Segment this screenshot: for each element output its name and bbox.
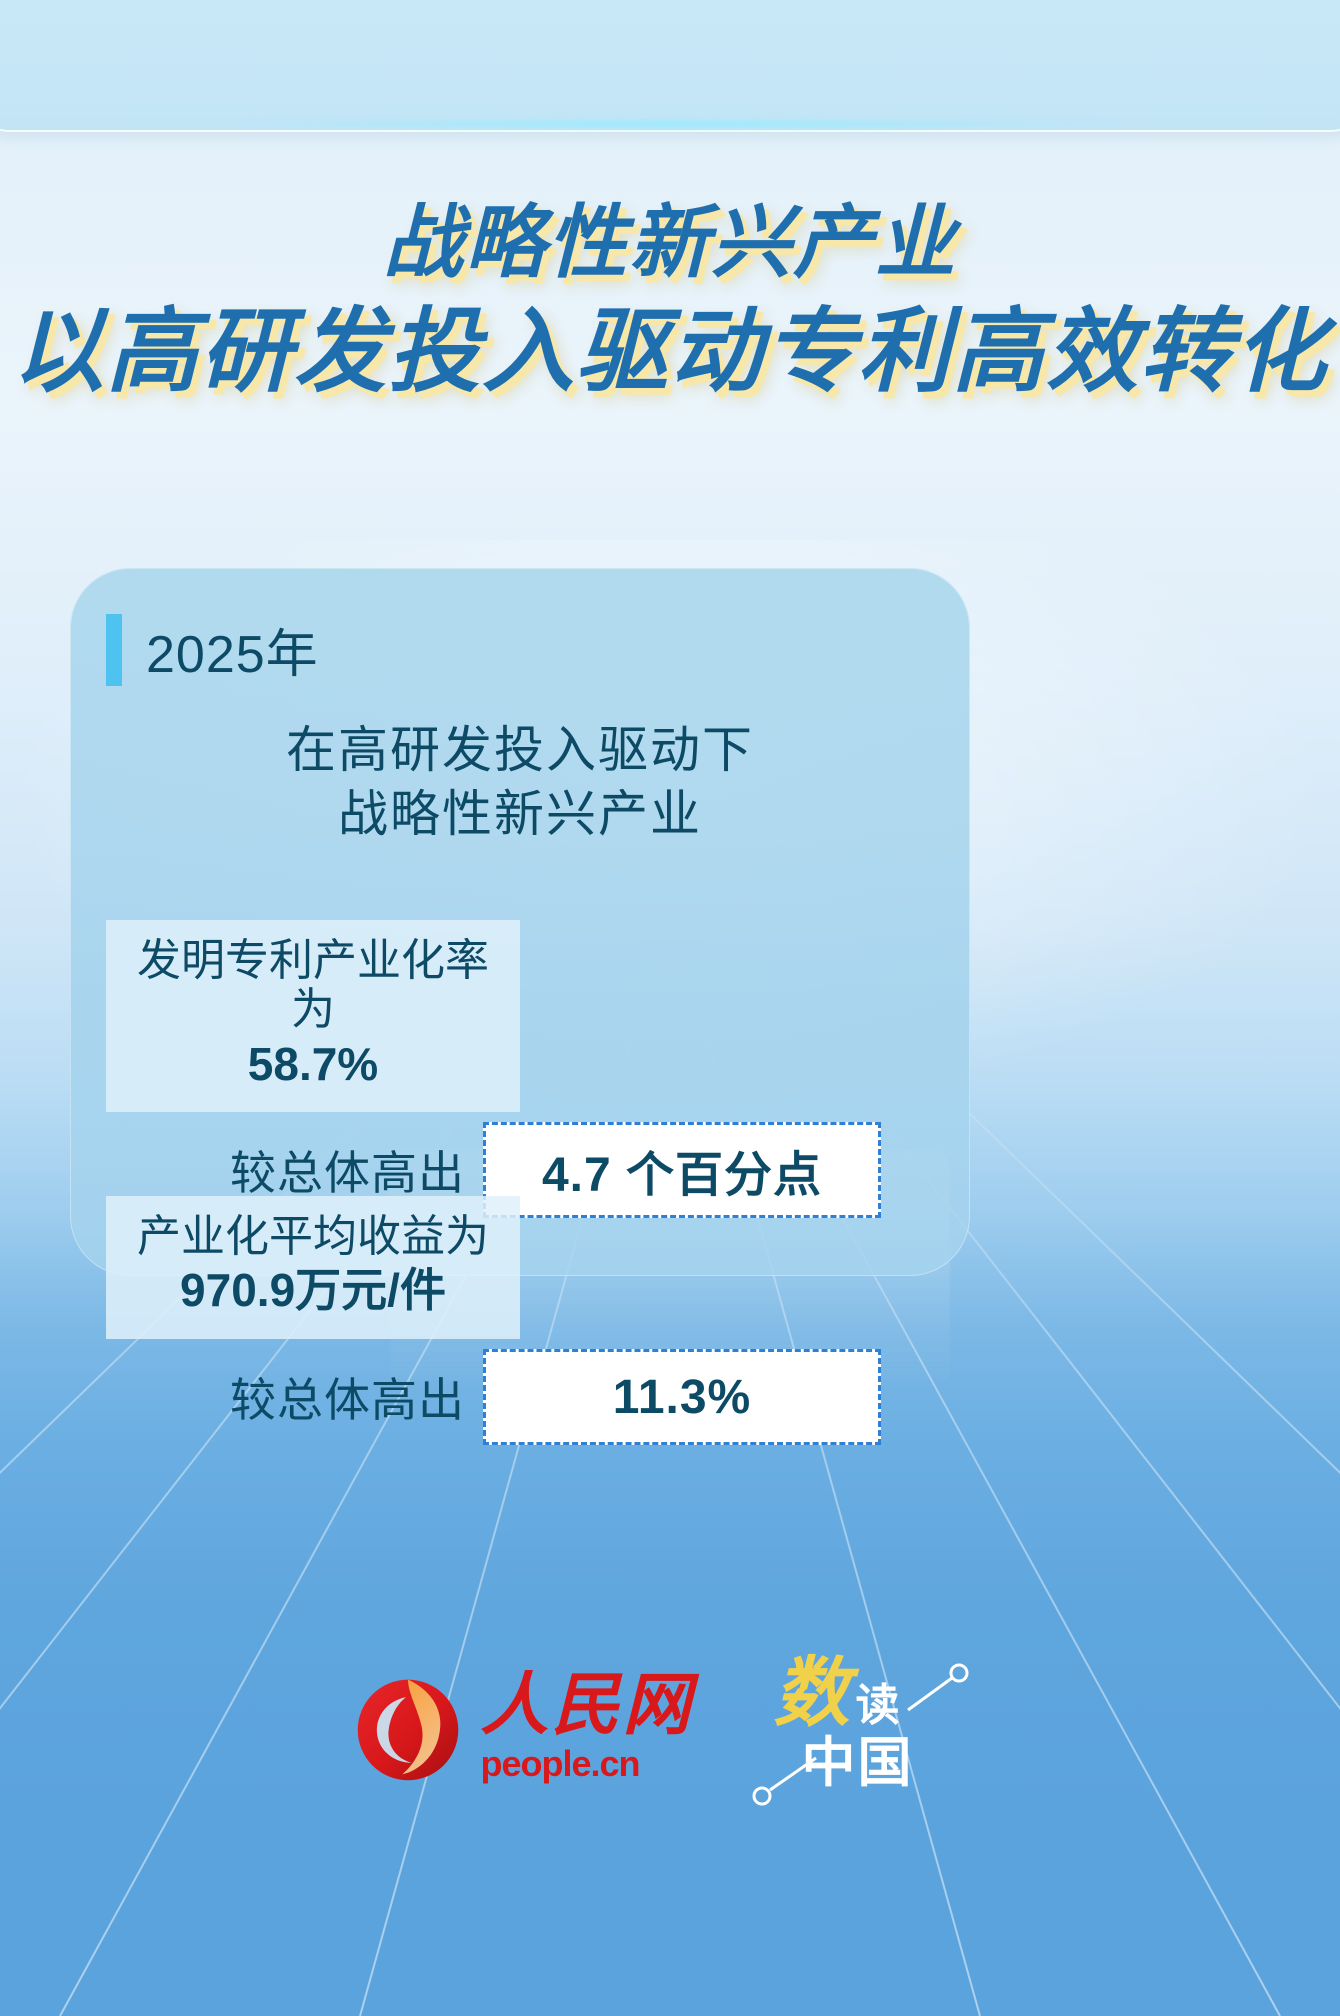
people-cn-wordmark: 人民网 people.cn [480,1671,693,1785]
year-row: 2025年 [106,612,319,687]
people-cn-english: people.cn [480,1743,639,1785]
content-card: 2025年 在高研发投入驱动下 战略性新兴产业 发明专利产业化率为 58.7% … [70,568,970,1276]
headline-line-2: 以高研发投入驱动专利高效转化 [0,298,1340,407]
metric-1-compare-value: 4.7 个百分点 [542,1135,822,1205]
shudu-char-du: 读 [856,1684,900,1728]
metric-2-label: 产业化平均收益为 [116,1212,510,1261]
metric-1-box: 发明专利产业化率为 58.7% [106,920,520,1112]
page-title: 战略性新兴产业 以高研发投入驱动专利高效转化 [0,196,1340,407]
metric-2-compare-row: 较总体高出 11.3% [70,1349,970,1445]
metric-block-2: 产业化平均收益为 970.9万元/件 较总体高出 11.3% [70,1196,970,1445]
top-decorative-panel [0,0,1340,130]
shudu-zhongguo-logo[interactable]: 数 读 中国 [740,1648,990,1808]
headline-line-1: 战略性新兴产业 [0,196,1340,290]
infographic-poster: 战略性新兴产业 以高研发投入驱动专利高效转化 2025年 在高研发投入驱动下 战… [0,0,1340,2016]
shudu-char-shu: 数 [774,1656,850,1732]
shudu-glyphs: 数 读 中国 [740,1648,990,1808]
metric-2-compare-chip: 11.3% [483,1349,881,1445]
metric-2-value: 970.9万元/件 [116,1261,510,1321]
shudu-chars-zhongguo: 中国 [802,1736,914,1790]
people-daily-flame-icon [350,1670,466,1786]
top-glow-line [200,118,1140,130]
metric-1-label: 发明专利产业化率为 [116,936,510,1035]
metric-2-box: 产业化平均收益为 970.9万元/件 [106,1196,520,1339]
metric-block-1: 发明专利产业化率为 58.7% 较总体高出 4.7 个百分点 [70,920,970,1218]
footer-logos: 人民网 people.cn 数 读 中国 [0,1648,1340,1808]
metric-2-compare-value: 11.3% [613,1370,751,1425]
metric-2-compare-label: 较总体高出 [230,1364,465,1430]
accent-bar [106,614,122,686]
people-cn-chinese: 人民网 [480,1671,693,1739]
people-cn-logo[interactable]: 人民网 people.cn [350,1670,693,1786]
year-label: 2025年 [146,612,319,687]
metric-1-value: 58.7% [116,1035,510,1095]
intro-text: 在高研发投入驱动下 战略性新兴产业 [70,718,970,846]
metric-1-compare-label: 较总体高出 [230,1137,465,1203]
intro-line-1: 在高研发投入驱动下 [70,718,970,782]
intro-line-2: 战略性新兴产业 [70,782,970,846]
